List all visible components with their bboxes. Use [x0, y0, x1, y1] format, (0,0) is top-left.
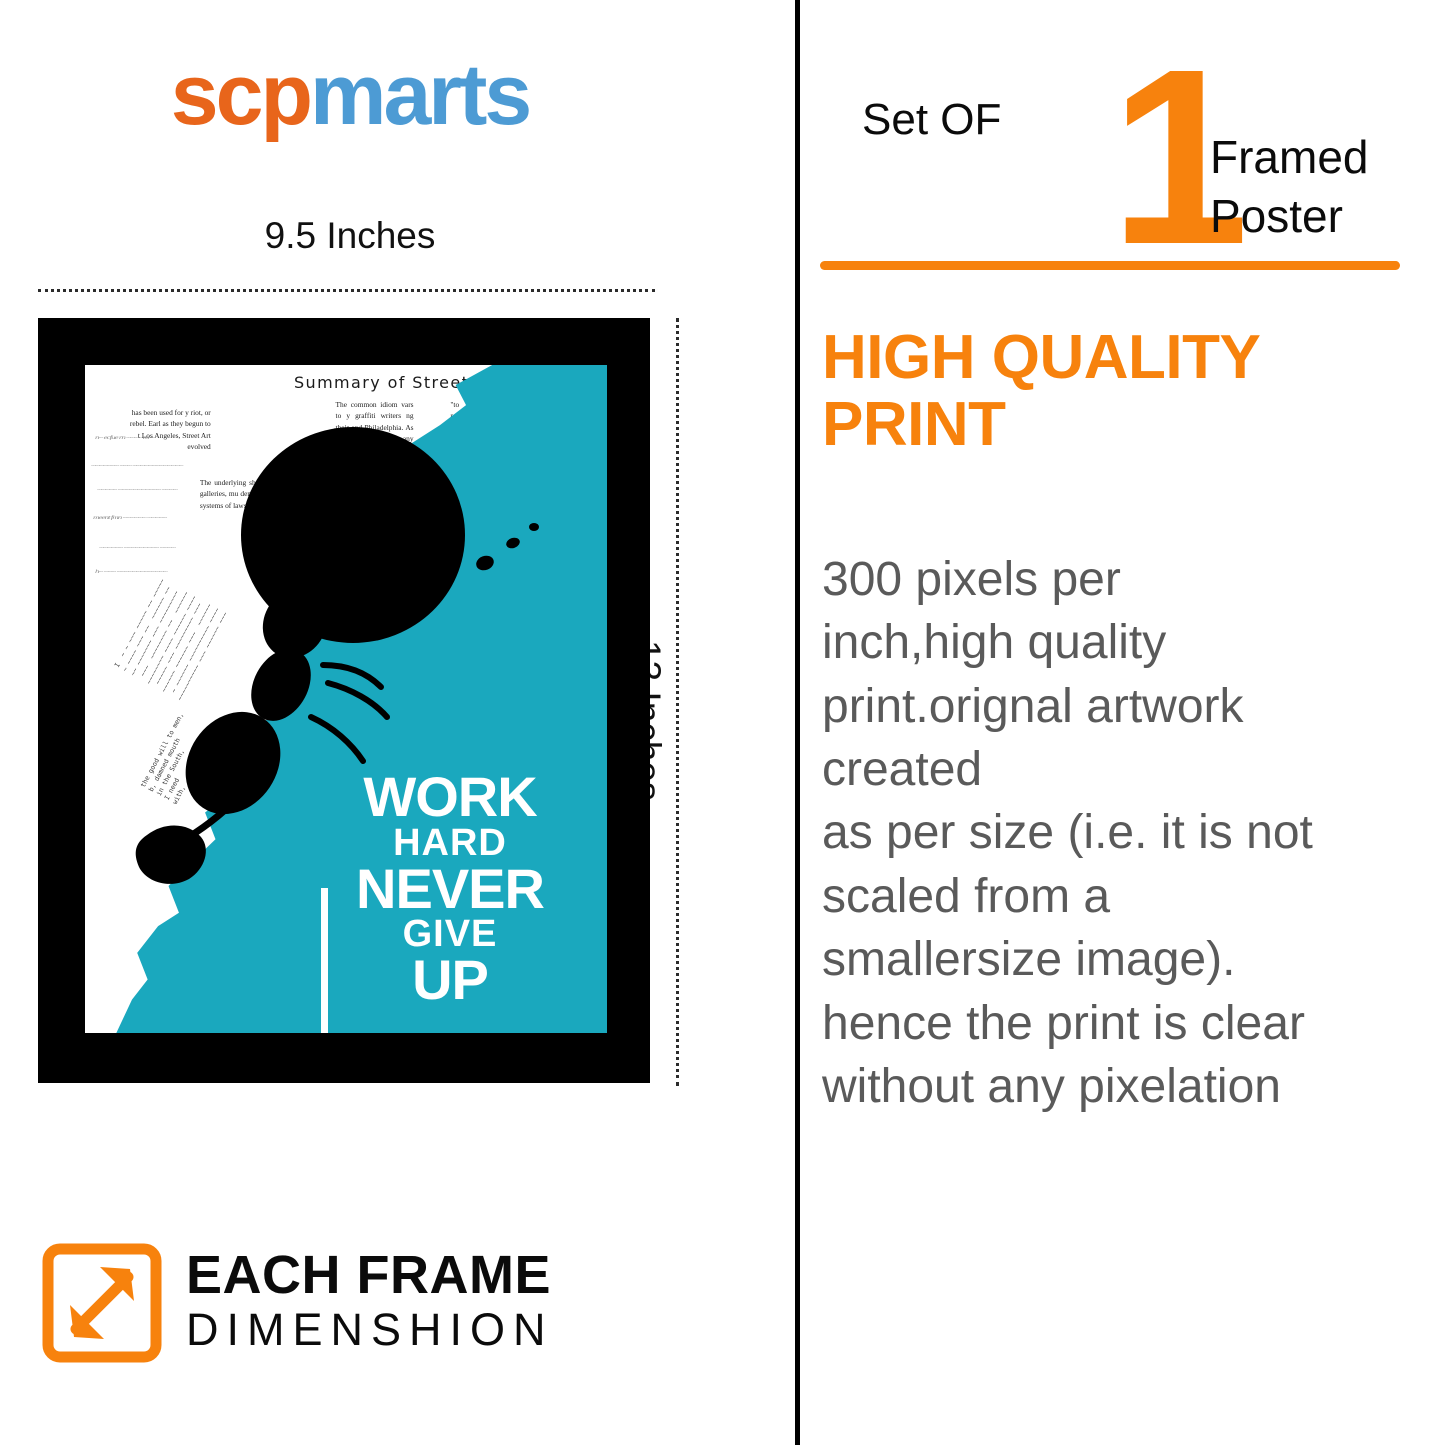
- badge-text-group: EACH FRAME DIMENSHION: [186, 1248, 554, 1358]
- product-listing-image: scpmarts 9.5 Inches 13 Inches Summary of…: [0, 0, 1445, 1445]
- brand-logo: scpmarts: [0, 52, 700, 138]
- description-line: created: [822, 738, 1422, 801]
- description-line: without any pixelation: [822, 1055, 1422, 1118]
- resize-diagonal-icon: [42, 1243, 162, 1363]
- description-line: as per size (i.e. it is not: [822, 801, 1422, 864]
- set-of-label: Set OF: [862, 95, 1001, 145]
- accent-divider-rule: [820, 261, 1400, 270]
- small-rock: [136, 825, 206, 883]
- brand-logo-part1: scp: [171, 47, 310, 143]
- right-panel: Set OF 1 Framed Poster HIGH QUALITY PRIN…: [800, 0, 1445, 1445]
- set-quantity-group: Set OF 1 Framed Poster: [862, 40, 1422, 240]
- frame-width-label: 9.5 Inches: [0, 215, 700, 257]
- slogan-line-2: HARD: [315, 825, 585, 862]
- badge-subtitle: DIMENSHION: [186, 1302, 554, 1358]
- brand-logo-part2: marts: [310, 47, 529, 143]
- picture-frame: Summary of Street and Graffiti The commo…: [38, 318, 650, 1083]
- each-frame-dimension-badge: EACH FRAME DIMENSHION: [42, 1243, 554, 1363]
- description-line: scaled from a: [822, 865, 1422, 928]
- description-line: print.orignal artwork: [822, 675, 1422, 738]
- feature-description: 300 pixels per inch,high quality print.o…: [822, 548, 1422, 1118]
- description-line: hence the print is clear: [822, 992, 1422, 1055]
- feature-headline: HIGH QUALITY PRINT: [822, 325, 1422, 459]
- slogan-line-1: WORK: [315, 770, 585, 824]
- feature-headline-line-1: HIGH QUALITY: [822, 325, 1422, 392]
- description-line: smallersize image).: [822, 928, 1422, 991]
- height-dimension-line: [676, 318, 679, 1086]
- product-type-line-1: Framed: [1210, 128, 1368, 187]
- badge-title: EACH FRAME: [186, 1248, 554, 1302]
- product-type-line-2: Poster: [1210, 187, 1368, 246]
- feature-headline-line-2: PRINT: [822, 392, 1422, 459]
- description-line: inch,high quality: [822, 611, 1422, 674]
- left-panel: scpmarts 9.5 Inches 13 Inches Summary of…: [0, 0, 795, 1445]
- description-line: 300 pixels per: [822, 548, 1422, 611]
- poster-slogan: WORK HARD NEVER GIVE UP: [315, 770, 585, 1007]
- product-type-label: Framed Poster: [1210, 128, 1368, 246]
- slogan-bracket: [321, 888, 488, 1033]
- width-dimension-line: [38, 289, 655, 292]
- poster-artwork: Summary of Street and Graffiti The commo…: [85, 365, 607, 1033]
